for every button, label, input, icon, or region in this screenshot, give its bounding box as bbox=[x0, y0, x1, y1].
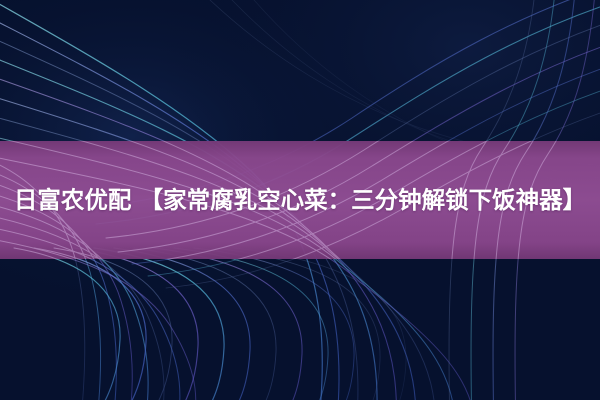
headline-container: 日富农优配 【家常腐乳空心菜：三分钟解锁下饭神器】 bbox=[0, 141, 600, 259]
headline-text: 日富农优配 【家常腐乳空心菜：三分钟解锁下饭神器】 bbox=[14, 180, 586, 221]
banner-image: 日富农优配 【家常腐乳空心菜：三分钟解锁下饭神器】 bbox=[0, 0, 600, 400]
